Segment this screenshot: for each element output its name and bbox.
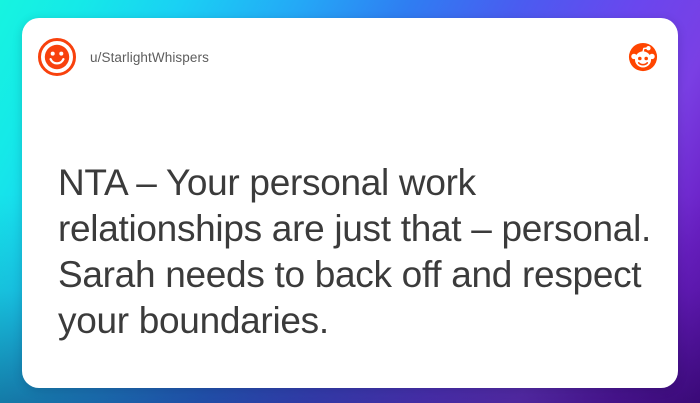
avatar[interactable] bbox=[37, 37, 77, 77]
post-text: NTA – Your personal work relationships a… bbox=[58, 160, 652, 344]
reddit-snoo-icon bbox=[628, 42, 658, 72]
reddit-brand-logo[interactable] bbox=[628, 42, 658, 72]
reddit-quote-card-canvas: u/StarlightWhispers NTA – Your personal … bbox=[0, 0, 700, 403]
smiley-face-avatar-icon bbox=[37, 37, 77, 77]
post-card-header: u/StarlightWhispers bbox=[22, 18, 678, 96]
post-card: u/StarlightWhispers NTA – Your personal … bbox=[22, 18, 678, 388]
post-body: NTA – Your personal work relationships a… bbox=[58, 160, 652, 344]
username-label: u/StarlightWhispers bbox=[90, 50, 209, 65]
